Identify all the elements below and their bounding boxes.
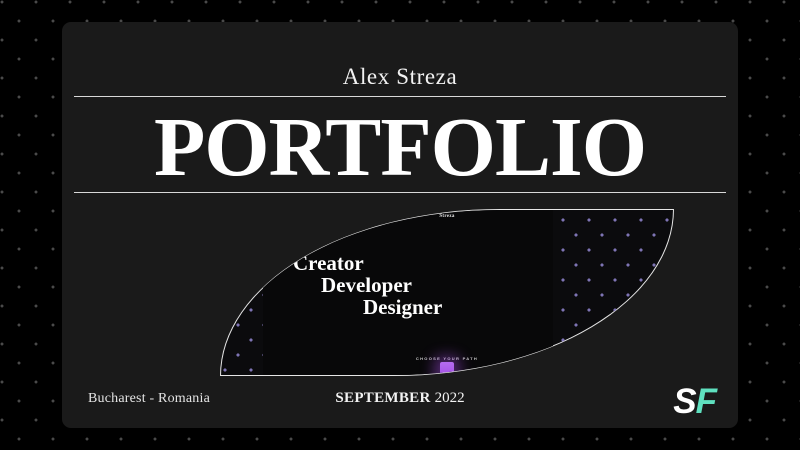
date-month: SEPTEMBER <box>335 390 430 406</box>
date-label: SEPTEMBER2022 <box>62 390 738 407</box>
website-preview[interactable]: Streza Creator Developer Designer CHOOSE… <box>220 209 674 376</box>
sf-logo: SF <box>673 384 716 419</box>
preview-roles: Creator Developer Designer <box>277 252 617 318</box>
page-title: PORTFOLIO <box>62 105 738 191</box>
divider-bottom <box>74 192 726 193</box>
role-designer: Designer <box>363 296 617 318</box>
divider-top <box>74 96 726 97</box>
choose-your-path-label[interactable]: CHOOSE YOUR PATH <box>221 356 673 361</box>
role-developer: Developer <box>321 274 617 296</box>
author-name: Alex Streza <box>62 65 738 88</box>
role-creator: Creator <box>293 252 617 274</box>
preview-site-logo: Streza <box>221 214 673 219</box>
sf-logo-s: S <box>673 382 695 421</box>
purple-cursor-chip-icon <box>440 362 454 376</box>
sf-logo-f: F <box>696 382 716 421</box>
slide-card: Alex Streza PORTFOLIO Streza Creator Dev… <box>62 22 738 428</box>
date-year: 2022 <box>435 390 465 406</box>
